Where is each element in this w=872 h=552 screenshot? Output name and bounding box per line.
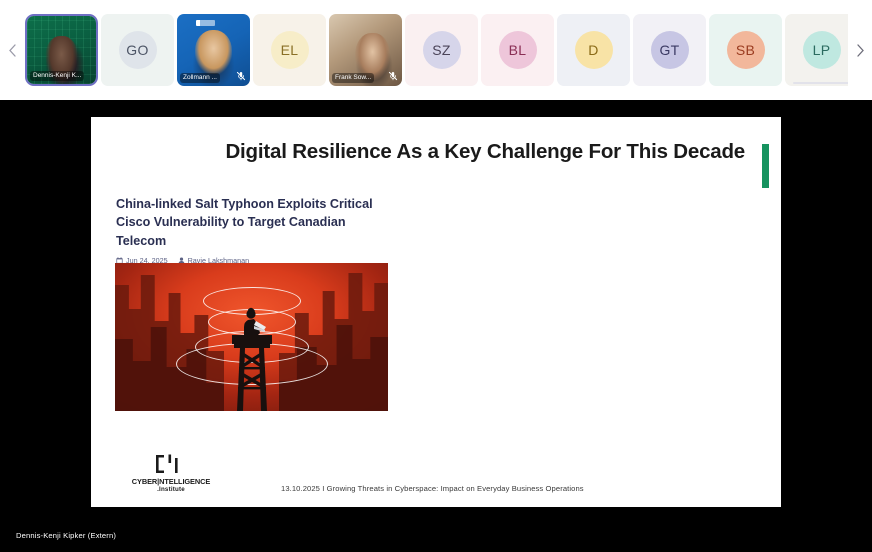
article-headline: China-linked Salt Typhoon Exploits Criti… [116,195,386,250]
cyberintelligence-logo: CYBER|NTELLIGENCE .Institute [116,453,226,493]
avatar-initials: GO [119,31,157,69]
avatar: GO [101,14,174,86]
filmstrip-scrollbar[interactable] [793,82,848,84]
ci-bracket-icon [154,453,188,475]
slide-title: Digital Resilience As a Key Challenge Fo… [185,140,745,165]
participant-tile-go[interactable]: GO [101,14,174,86]
slide-footer-caption: 13.10.2025 I Growing Threats in Cyberspa… [281,484,584,493]
logo-mark-icon [116,453,226,475]
mic-muted-icon [236,71,246,81]
avatar: LP [785,14,848,86]
tower-and-figure [220,305,284,411]
background-logo [196,20,215,26]
avatar: EL [253,14,326,86]
participant-name-label: Frank Sow... [332,73,374,83]
chevron-left-icon [8,44,17,57]
avatar-initials: GT [651,31,689,69]
participant-tile-d[interactable]: D [557,14,630,86]
participant-tile-sz[interactable]: SZ [405,14,478,86]
participant-tile-bl[interactable]: BL [481,14,554,86]
avatar: SB [709,14,782,86]
participant-tile-el[interactable]: EL [253,14,326,86]
logo-subtext: .Institute [116,486,226,493]
participant-tile-gt[interactable]: GT [633,14,706,86]
participant-tile-lp[interactable]: LP [785,14,848,86]
avatar-initials: D [575,31,613,69]
shared-slide[interactable]: Digital Resilience As a Key Challenge Fo… [91,117,781,507]
avatar-initials: SB [727,31,765,69]
participant-tile-frank[interactable]: Frank Sow... [329,14,402,86]
participant-name-label: Dennis-Kenji K... [30,71,84,81]
avatar: SZ [405,14,478,86]
chevron-right-icon [856,44,865,57]
participant-tiles[interactable]: Dennis-Kenji K...GOZollmann ...ELFrank S… [24,0,848,100]
participant-tile-dennis[interactable]: Dennis-Kenji K... [25,14,98,86]
article-illustration [115,263,388,411]
avatar: D [557,14,630,86]
title-accent-bar [762,144,769,188]
avatar-initials: SZ [423,31,461,69]
avatar-initials: LP [803,31,841,69]
participant-tile-sb[interactable]: SB [709,14,782,86]
filmstrip-next-button[interactable] [848,0,872,100]
mic-muted-icon [388,71,398,81]
avatar-initials: EL [271,31,309,69]
participant-tile-zollmann[interactable]: Zollmann ... [177,14,250,86]
participant-name-label: Zollmann ... [180,73,220,83]
avatar: BL [481,14,554,86]
avatar-initials: BL [499,31,537,69]
avatar: GT [633,14,706,86]
logo-wordmark: CYBER|NTELLIGENCE [116,477,226,486]
presentation-stage: Digital Resilience As a Key Challenge Fo… [0,100,872,552]
presenter-name-label: Dennis-Kenji Kipker (Extern) [8,527,124,544]
filmstrip-prev-button[interactable] [0,0,24,100]
article-block: China-linked Salt Typhoon Exploits Criti… [116,195,536,265]
participant-filmstrip: Dennis-Kenji K...GOZollmann ...ELFrank S… [0,0,872,100]
